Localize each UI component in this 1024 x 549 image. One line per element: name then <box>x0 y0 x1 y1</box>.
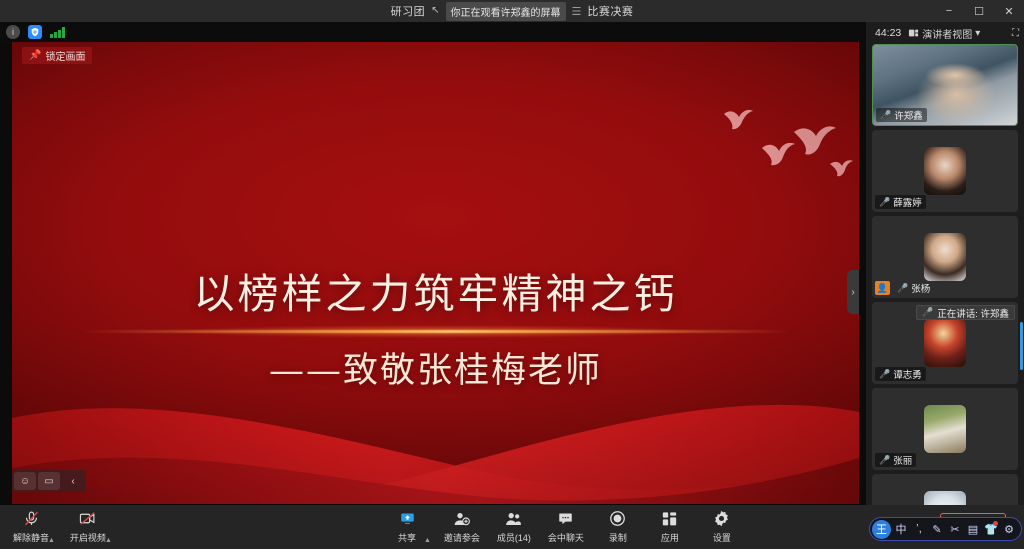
panel-header: 44:23 演讲者视图 ▾ ⛶ <box>866 22 1024 44</box>
ime-language-button[interactable]: 中 <box>893 519 909 539</box>
ime-screenshot-icon[interactable]: ✂ <box>947 519 963 539</box>
meeting-timer: 44:23 <box>875 27 901 39</box>
app-title: 研习团 <box>391 3 426 19</box>
minimize-button[interactable]: − <box>934 0 964 22</box>
share-label: 共享 <box>398 531 416 544</box>
participant-tile-3[interactable]: 🎤 正在讲话: 许郑鑫 🎤 谭志勇 <box>872 302 1018 384</box>
participant-name: 张丽 <box>893 453 912 467</box>
view-mode-selector[interactable]: 演讲者视图 ▾ <box>908 26 980 41</box>
avatar <box>924 405 966 453</box>
invite-person-icon <box>453 509 471 528</box>
collapse-annotation-icon[interactable]: ‹ <box>62 472 84 490</box>
annotation-toolbar: ☺ ▭ ‹ <box>12 470 86 492</box>
invite-label: 邀请参会 <box>444 531 480 544</box>
avatar <box>924 233 966 281</box>
settings-button[interactable]: 设置 <box>701 509 743 544</box>
participant-name-badge: 🎤 薛露婷 <box>875 195 926 209</box>
emoji-reaction-icon[interactable]: ☺ <box>14 472 36 490</box>
participants-button[interactable]: 成员(14) <box>493 509 535 544</box>
slide-glow-divider <box>80 330 792 333</box>
video-off-icon <box>78 509 97 528</box>
presentation-slide: 📌 锁定画面 以榜样之力筑牢精神之钙 ——致敬张桂梅老师 ☺ ▭ ‹ › <box>12 42 859 504</box>
chat-bubble-icon <box>557 509 574 528</box>
ime-handwriting-icon[interactable]: ✎ <box>929 519 945 539</box>
menu-lines-icon: ☰ <box>572 5 582 18</box>
meeting-status-bar: i <box>0 22 866 42</box>
participant-name: 谭志勇 <box>893 367 922 381</box>
network-signal-icon[interactable] <box>50 27 65 38</box>
input-method-bar: 王 中 ʼ, ✎ ✂ ▤ 👕 ⚙ <box>869 517 1022 541</box>
lock-screen-label: 锁定画面 <box>45 48 85 63</box>
screen-share-icon <box>399 509 416 528</box>
apps-button[interactable]: 应用 <box>649 509 691 544</box>
avatar <box>924 147 966 195</box>
ime-logo-icon[interactable]: 王 <box>872 520 891 539</box>
meeting-name: 比赛决赛 <box>587 3 633 19</box>
shield-icon[interactable] <box>28 25 42 39</box>
toolbar-center-group: 共享 ▲ 邀请参会 成员(14) 会中聊天 <box>386 509 743 544</box>
participants-icon <box>504 509 523 528</box>
start-video-label: 开启视频 <box>70 531 106 544</box>
unmute-button[interactable]: 解除静音 <box>10 509 52 544</box>
close-button[interactable]: ✕ <box>994 0 1024 22</box>
participants-panel: 44:23 演讲者视图 ▾ ⛶ 🎤 许郑鑫 <box>866 22 1024 505</box>
share-notice-badge: 你正在观看许郑鑫的屏幕 <box>446 2 566 21</box>
slide-title: 以榜样之力筑牢精神之钙 <box>12 260 859 320</box>
share-options-caret[interactable]: ▲ <box>424 537 431 544</box>
zoom-meeting-window: 研习团 ↖ 你正在观看许郑鑫的屏幕 ☰ 比赛决赛 − ☐ ✕ i <box>0 0 1024 549</box>
speaking-tooltip-label: 正在讲话: 许郑鑫 <box>937 306 1009 320</box>
avatar <box>924 319 966 367</box>
slide-subtitle: ——致敬张桂梅老师 <box>12 342 859 393</box>
participant-tile-2[interactable]: 👤 🎤 张杨 <box>872 216 1018 298</box>
title-bar: 研习团 ↖ 你正在观看许郑鑫的屏幕 ☰ 比赛决赛 − ☐ ✕ <box>0 0 1024 22</box>
fullscreen-icon[interactable]: ⛶ <box>1012 28 1019 39</box>
lock-screen-badge[interactable]: 📌 锁定画面 <box>22 47 92 64</box>
participants-label: 成员(14) <box>497 531 531 544</box>
participant-name: 张杨 <box>911 281 930 295</box>
apps-label: 应用 <box>661 531 679 544</box>
participant-name: 许郑鑫 <box>894 108 923 122</box>
ime-punctuation-button[interactable]: ʼ, <box>911 519 927 539</box>
chat-button[interactable]: 会中聊天 <box>545 509 587 544</box>
participant-tile-0[interactable]: 🎤 许郑鑫 <box>872 44 1018 126</box>
chat-label: 会中聊天 <box>548 531 584 544</box>
ime-keyboard-icon[interactable]: ▤ <box>965 519 981 539</box>
mic-muted-icon: 🎤 <box>879 198 890 207</box>
shared-screen-stage: 📌 锁定画面 以榜样之力筑牢精神之钙 ——致敬张桂梅老师 ☺ ▭ ‹ › <box>0 42 866 505</box>
participant-tile-1[interactable]: 🎤 薛露婷 <box>872 130 1018 212</box>
maximize-button[interactable]: ☐ <box>964 0 994 22</box>
mic-muted-icon <box>23 509 40 528</box>
record-icon <box>609 509 626 528</box>
mic-muted-icon: 🎤 <box>879 456 890 465</box>
invite-button[interactable]: 邀请参会 <box>441 509 483 544</box>
participant-name-badge: 🎤 谭志勇 <box>875 367 926 381</box>
record-label: 录制 <box>609 531 627 544</box>
gear-icon <box>713 509 730 528</box>
participant-tiles: 🎤 许郑鑫 🎤 薛露婷 👤 🎤 张杨 <box>866 44 1024 549</box>
participants-scrollbar[interactable] <box>1020 322 1023 370</box>
settings-label: 设置 <box>713 531 731 544</box>
record-button[interactable]: 录制 <box>597 509 639 544</box>
participant-name-badge: 🎤 张丽 <box>875 453 916 467</box>
pin-icon: 📌 <box>29 50 41 61</box>
unmute-label: 解除静音 <box>13 531 49 544</box>
participant-name-badge: 🎤 许郑鑫 <box>876 108 927 122</box>
mic-muted-icon: 🎤 <box>879 370 890 379</box>
share-button[interactable]: 共享 <box>386 509 428 544</box>
participant-name-badge: 🎤 张杨 <box>893 281 934 295</box>
chevron-down-icon: ▾ <box>975 28 980 39</box>
window-controls: − ☐ ✕ <box>934 0 1024 22</box>
notification-dot <box>993 521 998 526</box>
start-video-button[interactable]: 开启视频 <box>67 509 109 544</box>
mic-on-icon: 🎤 <box>880 111 891 120</box>
share-arrow-icon: ↖ <box>431 6 439 16</box>
mic-muted-icon: 🎤 <box>922 308 933 317</box>
toolbar-left-group: 解除静音 ▲ 开启视频 ▲ <box>10 509 112 544</box>
ime-skin-icon[interactable]: 👕 <box>983 519 999 539</box>
participant-tile-4[interactable]: 🎤 张丽 <box>872 388 1018 470</box>
view-mode-label: 演讲者视图 <box>922 26 972 41</box>
mic-muted-icon: 🎤 <box>897 284 908 293</box>
host-badge-icon: 👤 <box>875 281 890 295</box>
ime-settings-icon[interactable]: ⚙ <box>1001 519 1017 539</box>
mic-options-caret[interactable]: ▲ <box>48 537 55 544</box>
video-options-caret[interactable]: ▲ <box>105 537 112 544</box>
chat-bubble-icon[interactable]: ▭ <box>38 472 60 490</box>
info-icon[interactable]: i <box>6 25 20 39</box>
speaker-view-icon <box>908 28 919 38</box>
speaking-tooltip: 🎤 正在讲话: 许郑鑫 <box>916 305 1015 320</box>
apps-grid-icon <box>661 509 678 528</box>
participant-name: 薛露婷 <box>893 195 922 209</box>
panel-collapse-handle[interactable]: › <box>847 270 859 314</box>
title-group: 研习团 ↖ 你正在观看许郑鑫的屏幕 ☰ 比赛决赛 <box>391 0 634 22</box>
